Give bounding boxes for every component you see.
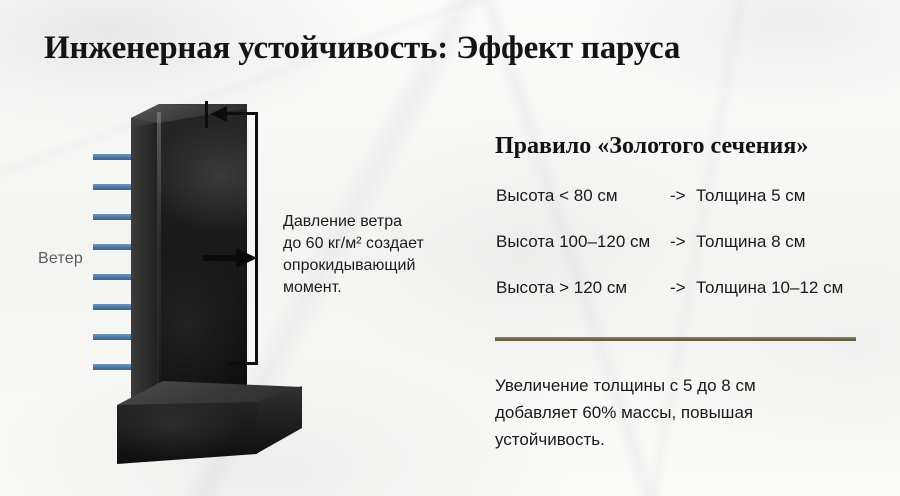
rule-condition: Высота > 120 см <box>496 278 670 298</box>
dimension-vertical-line <box>255 112 258 365</box>
thickness-rule-row: Высота > 120 см->Толщина 10–12 см <box>496 278 896 324</box>
caption-line: Давление ветра <box>283 211 463 233</box>
wind-label: Ветер <box>38 250 83 268</box>
monument-illustration: Ветер Давление ветрадо 60 кг/м² создаето… <box>0 0 470 496</box>
monument-slab-side-face <box>131 118 159 414</box>
dimension-tick-mark <box>205 101 208 128</box>
mass-increase-note: Увеличение толщины с 5 до 8 смдобавляет … <box>495 372 875 453</box>
rule-result: Толщина 8 см <box>696 232 896 252</box>
thickness-rule-list: Высота < 80 см->Толщина 5 смВысота 100–1… <box>496 186 896 324</box>
rule-arrow-icon: -> <box>670 186 696 206</box>
monument-base-front-face <box>117 402 257 464</box>
dimension-top-line <box>224 112 258 115</box>
note-line: Увеличение толщины с 5 до 8 см <box>495 372 875 399</box>
caption-line: до 60 кг/м² создает <box>283 233 463 255</box>
section-divider <box>495 337 856 341</box>
dimension-bottom-line <box>227 362 258 365</box>
rule-arrow-icon: -> <box>670 278 696 298</box>
monument-slab-edge-highlight <box>157 112 161 418</box>
golden-ratio-panel: Правило «Золотого сечения» Высота < 80 с… <box>495 0 900 496</box>
panel-heading: Правило «Золотого сечения» <box>495 133 808 160</box>
rule-result: Толщина 5 см <box>696 186 896 206</box>
rule-condition: Высота 100–120 см <box>496 232 670 252</box>
rule-result: Толщина 10–12 см <box>696 278 896 298</box>
rule-arrow-icon: -> <box>670 232 696 252</box>
rule-condition: Высота < 80 см <box>496 186 670 206</box>
wind-pressure-caption: Давление ветрадо 60 кг/м² создаетопрокид… <box>283 211 463 299</box>
thickness-rule-row: Высота 100–120 см->Толщина 8 см <box>496 232 896 278</box>
note-line: добавляет 60% массы, повышая <box>495 399 875 426</box>
note-line: устойчивость. <box>495 426 875 453</box>
caption-line: момент. <box>283 277 463 299</box>
slide-canvas: Инженерная устойчивость: Эффект паруса В… <box>0 0 900 496</box>
moment-arrow-shaft <box>203 255 239 261</box>
monument-slab-front-face <box>159 108 247 420</box>
thickness-rule-row: Высота < 80 см->Толщина 5 см <box>496 186 896 232</box>
moment-arrow-icon <box>236 248 257 268</box>
caption-line: опрокидывающий <box>283 255 463 277</box>
